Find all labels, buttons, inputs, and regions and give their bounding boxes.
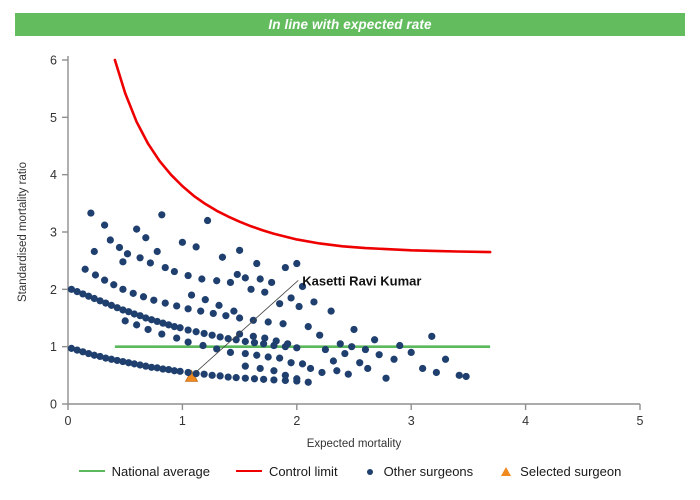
y-tick-label: 3 — [50, 226, 57, 240]
legend-item-label: Other surgeons — [384, 464, 474, 479]
x-tick-label: 0 — [65, 414, 72, 428]
other-surgeon-point[interactable] — [242, 338, 249, 345]
other-surgeon-point[interactable] — [133, 226, 140, 233]
chart-legend: National averageControl limitOther surge… — [0, 456, 700, 486]
other-surgeon-point[interactable] — [133, 321, 140, 328]
other-surgeon-point[interactable] — [217, 333, 224, 340]
other-surgeon-point[interactable] — [337, 340, 344, 347]
other-surgeon-point[interactable] — [144, 326, 151, 333]
other-surgeon-point[interactable] — [199, 342, 206, 349]
other-surgeon-point[interactable] — [119, 286, 126, 293]
other-surgeon-point[interactable] — [356, 359, 363, 366]
other-surgeon-point[interactable] — [260, 376, 267, 383]
legend-item-other-surgeons[interactable]: Other surgeons — [364, 464, 474, 479]
series-other-surgeons-lower-dense-band- — [68, 345, 301, 385]
other-surgeon-point[interactable] — [92, 271, 99, 278]
legend-item-label: National average — [112, 464, 210, 479]
other-surgeon-point[interactable] — [179, 239, 186, 246]
other-surgeon-point[interactable] — [198, 275, 205, 282]
y-tick-label: 2 — [50, 283, 57, 297]
other-surgeon-point[interactable] — [87, 209, 94, 216]
other-surgeon-point[interactable] — [225, 373, 232, 380]
other-surgeon-point[interactable] — [251, 375, 258, 382]
other-surgeon-point[interactable] — [177, 324, 184, 331]
other-surgeon-point[interactable] — [147, 259, 154, 266]
other-surgeon-point[interactable] — [234, 271, 241, 278]
other-surgeon-point[interactable] — [101, 277, 108, 284]
other-surgeon-point[interactable] — [273, 337, 280, 344]
other-surgeon-point[interactable] — [328, 308, 335, 315]
y-tick-label: 1 — [50, 340, 57, 354]
other-surgeon-point[interactable] — [193, 243, 200, 250]
y-tick-label: 6 — [50, 54, 57, 68]
legend-item-control-limit[interactable]: Control limit — [236, 464, 338, 479]
other-surgeon-point[interactable] — [185, 369, 192, 376]
other-surgeon-point[interactable] — [371, 336, 378, 343]
other-surgeon-point[interactable] — [293, 375, 300, 382]
other-surgeon-point[interactable] — [91, 248, 98, 255]
annotation-label: Kasetti Ravi Kumar — [302, 273, 421, 288]
other-surgeon-point[interactable] — [158, 330, 165, 337]
other-surgeon-point[interactable] — [442, 356, 449, 363]
other-surgeon-point[interactable] — [158, 211, 165, 218]
other-surgeon-point[interactable] — [201, 371, 208, 378]
other-surgeon-point[interactable] — [185, 326, 192, 333]
other-surgeon-point[interactable] — [204, 217, 211, 224]
other-surgeon-point[interactable] — [396, 342, 403, 349]
other-surgeon-point[interactable] — [428, 333, 435, 340]
other-surgeon-point[interactable] — [202, 296, 209, 303]
other-surgeon-point[interactable] — [261, 334, 268, 341]
orange-triangle-icon — [499, 465, 513, 478]
x-axis-title: Expected mortality — [307, 438, 402, 450]
other-surgeon-point[interactable] — [193, 328, 200, 335]
other-surgeon-point[interactable] — [348, 343, 355, 350]
other-surgeon-point[interactable] — [185, 305, 192, 312]
other-surgeon-point[interactable] — [130, 290, 137, 297]
x-tick-label: 5 — [637, 414, 644, 428]
other-surgeon-point[interactable] — [287, 359, 294, 366]
other-surgeon-point[interactable] — [162, 299, 169, 306]
other-surgeon-point[interactable] — [107, 236, 114, 243]
other-surgeon-point[interactable] — [261, 289, 268, 296]
other-surgeon-point[interactable] — [463, 373, 470, 380]
other-surgeon-point[interactable] — [362, 346, 369, 353]
other-surgeon-point[interactable] — [333, 367, 340, 374]
other-surgeon-point[interactable] — [122, 317, 129, 324]
other-surgeon-point[interactable] — [265, 353, 272, 360]
other-surgeon-point[interactable] — [345, 371, 352, 378]
other-surgeon-point[interactable] — [276, 355, 283, 362]
other-surgeon-point[interactable] — [217, 372, 224, 379]
control-limit-curve — [115, 60, 490, 252]
other-surgeon-point[interactable] — [110, 281, 117, 288]
y-tick-label: 4 — [50, 168, 57, 182]
legend-item-label: Control limit — [269, 464, 338, 479]
other-surgeon-point[interactable] — [253, 352, 260, 359]
other-surgeon-point[interactable] — [185, 338, 192, 345]
other-surgeon-point[interactable] — [193, 370, 200, 377]
other-surgeon-point[interactable] — [293, 260, 300, 267]
other-surgeon-point[interactable] — [408, 349, 415, 356]
other-surgeon-point[interactable] — [270, 376, 277, 383]
other-surgeon-point[interactable] — [364, 365, 371, 372]
green-line-icon — [79, 465, 105, 478]
other-surgeon-point[interactable] — [330, 357, 337, 364]
other-surgeon-point[interactable] — [242, 350, 249, 357]
other-surgeon-point[interactable] — [101, 222, 108, 229]
other-surgeon-point[interactable] — [142, 234, 149, 241]
other-surgeon-point[interactable] — [140, 293, 147, 300]
other-surgeon-point[interactable] — [236, 247, 243, 254]
other-surgeon-point[interactable] — [305, 379, 312, 386]
other-surgeon-point[interactable] — [227, 279, 234, 286]
other-surgeon-point[interactable] — [82, 266, 89, 273]
other-surgeon-point[interactable] — [299, 360, 306, 367]
other-surgeon-point[interactable] — [124, 250, 131, 257]
other-surgeon-point[interactable] — [242, 363, 249, 370]
other-surgeon-point[interactable] — [341, 350, 348, 357]
legend-item-selected-surgeon[interactable]: Selected surgeon — [499, 464, 621, 479]
chart-area: 0123456012345Expected mortalityStandardi… — [0, 36, 700, 456]
other-surgeon-point[interactable] — [265, 318, 272, 325]
other-surgeon-point[interactable] — [173, 302, 180, 309]
other-surgeon-point[interactable] — [433, 369, 440, 376]
other-surgeon-point[interactable] — [230, 308, 237, 315]
other-surgeon-point[interactable] — [210, 310, 217, 317]
other-surgeon-point[interactable] — [257, 365, 264, 372]
other-surgeon-point[interactable] — [276, 300, 283, 307]
other-surgeon-point[interactable] — [213, 277, 220, 284]
other-surgeon-point[interactable] — [119, 258, 126, 265]
other-surgeon-point[interactable] — [136, 254, 143, 261]
red-line-icon — [236, 465, 262, 478]
other-surgeon-point[interactable] — [376, 351, 383, 358]
other-surgeon-point[interactable] — [116, 244, 123, 251]
funnel-plot-svg: 0123456012345Expected mortalityStandardi… — [0, 36, 700, 456]
other-surgeon-point[interactable] — [201, 330, 208, 337]
y-axis-title: Standardised mortality ratio — [17, 162, 29, 302]
other-surgeon-point[interactable] — [307, 365, 314, 372]
other-surgeon-point[interactable] — [318, 369, 325, 376]
other-surgeon-point[interactable] — [154, 248, 161, 255]
other-surgeon-point[interactable] — [350, 326, 357, 333]
navy-dot-icon — [364, 465, 377, 478]
y-tick-label: 5 — [50, 111, 57, 125]
legend-item-label: Selected surgeon — [520, 464, 621, 479]
other-surgeon-point[interactable] — [242, 274, 249, 281]
other-surgeon-point[interactable] — [279, 320, 286, 327]
other-surgeon-point[interactable] — [456, 372, 463, 379]
x-tick-label: 1 — [179, 414, 186, 428]
other-surgeon-point[interactable] — [268, 279, 275, 286]
other-surgeon-point[interactable] — [188, 291, 195, 298]
other-surgeon-point[interactable] — [390, 356, 397, 363]
other-surgeon-point[interactable] — [284, 340, 291, 347]
other-surgeon-point[interactable] — [236, 314, 243, 321]
other-surgeon-point[interactable] — [150, 297, 157, 304]
other-surgeon-point[interactable] — [419, 365, 426, 372]
other-surgeon-point[interactable] — [293, 344, 300, 351]
other-surgeon-point[interactable] — [242, 375, 249, 382]
other-surgeon-point[interactable] — [209, 372, 216, 379]
other-surgeon-point[interactable] — [322, 346, 329, 353]
other-surgeon-point[interactable] — [173, 334, 180, 341]
other-surgeon-point[interactable] — [177, 368, 184, 375]
other-surgeon-point[interactable] — [250, 333, 257, 340]
other-surgeon-point[interactable] — [215, 302, 222, 309]
x-tick-label: 4 — [522, 414, 529, 428]
other-surgeon-point[interactable] — [219, 254, 226, 261]
other-surgeon-point[interactable] — [282, 372, 289, 379]
other-surgeon-point[interactable] — [253, 260, 260, 267]
other-surgeon-point[interactable] — [171, 268, 178, 275]
other-surgeon-point[interactable] — [316, 332, 323, 339]
other-surgeon-point[interactable] — [162, 264, 169, 271]
other-surgeon-point[interactable] — [282, 264, 289, 271]
other-surgeon-point[interactable] — [295, 303, 302, 310]
other-surgeon-point[interactable] — [305, 323, 312, 330]
other-surgeon-point[interactable] — [185, 272, 192, 279]
other-surgeon-point[interactable] — [251, 339, 258, 346]
other-surgeon-point[interactable] — [287, 294, 294, 301]
status-banner: In line with expected rate — [15, 13, 685, 36]
other-surgeon-point[interactable] — [270, 367, 277, 374]
other-surgeon-point[interactable] — [227, 349, 234, 356]
other-surgeon-point[interactable] — [233, 374, 240, 381]
other-surgeon-point[interactable] — [197, 308, 204, 315]
other-surgeon-point[interactable] — [222, 312, 229, 319]
x-tick-label: 2 — [293, 414, 300, 428]
other-surgeon-point[interactable] — [247, 286, 254, 293]
y-tick-label: 0 — [50, 398, 57, 412]
legend-item-national-average[interactable]: National average — [79, 464, 210, 479]
other-surgeon-point[interactable] — [382, 375, 389, 382]
other-surgeon-point[interactable] — [310, 298, 317, 305]
other-surgeon-point[interactable] — [257, 275, 264, 282]
other-surgeon-point[interactable] — [236, 330, 243, 337]
other-surgeon-point[interactable] — [209, 332, 216, 339]
funnel-plot-page: In line with expected rate 0123456012345… — [0, 0, 700, 500]
x-tick-label: 3 — [408, 414, 415, 428]
